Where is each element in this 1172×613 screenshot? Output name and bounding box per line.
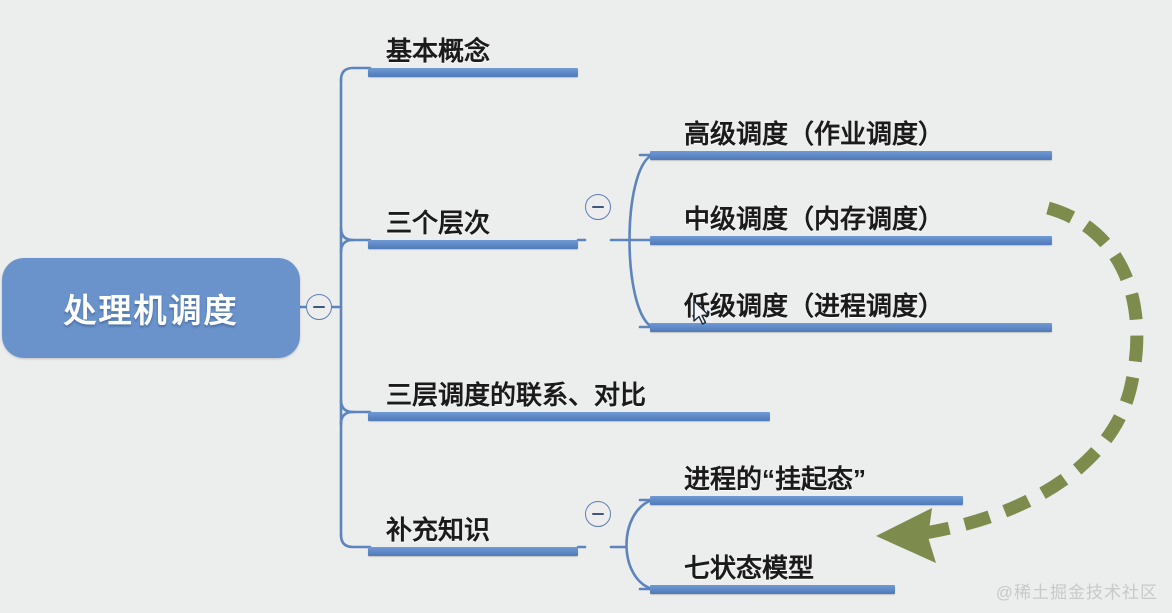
topic-three-levels-bar [368,240,578,249]
watermark: @稀土掘金技术社区 [996,578,1158,603]
topic-three-levels-label: 三个层次 [386,203,490,240]
topic-mid-level-scheduling-bar [650,236,1052,245]
topic-seven-state-model[interactable]: 七状态模型 [650,533,895,594]
root-node[interactable]: 处理机调度 [2,258,300,358]
topic-basic-concepts[interactable]: 基本概念 [368,12,578,77]
topic-three-levels[interactable]: 三个层次 [368,184,578,249]
branch-elbow-3 [341,400,370,412]
topic-mid-level-scheduling-label: 中级调度（内存调度） [684,199,944,236]
topic-high-level-scheduling[interactable]: 高级调度（作业调度） [650,99,1052,160]
branch4-bracket-curve [627,500,653,589]
topic-supplementary-knowledge-bar [368,547,578,556]
mouse-cursor-icon [692,300,712,328]
branch-elbow-3b [341,412,353,424]
topic-process-suspended-state-label: 进程的“挂起态” [684,459,866,496]
topic-process-suspended-state[interactable]: 进程的“挂起态” [650,444,963,505]
topic-high-level-scheduling-bar [650,151,1052,160]
topic-basic-concepts-bar [368,68,578,77]
branch2-bracket-curve [630,155,653,327]
topic-seven-state-model-label: 七状态模型 [684,548,814,585]
topic-three-level-comparison[interactable]: 三层调度的联系、对比 [368,356,770,421]
topic-three-levels-collapse-toggle[interactable] [585,194,611,220]
root-collapse-toggle[interactable] [306,294,332,320]
topic-high-level-scheduling-label: 高级调度（作业调度） [684,114,944,151]
topic-seven-state-model-bar [650,585,895,594]
root-node-label: 处理机调度 [2,258,300,358]
branch-elbow-2b [341,240,353,252]
topic-three-level-comparison-label: 三层调度的联系、对比 [386,375,646,412]
topic-basic-concepts-label: 基本概念 [386,31,490,68]
topic-supplementary-knowledge[interactable]: 补充知识 [368,491,578,556]
branch-elbow-1 [341,68,370,80]
topic-supplementary-knowledge-label: 补充知识 [386,510,490,547]
topic-supplementary-knowledge-collapse-toggle[interactable] [585,501,611,527]
topic-mid-level-scheduling[interactable]: 中级调度（内存调度） [650,184,1052,245]
branch-elbow-2 [341,228,370,240]
topic-low-level-scheduling-label: 低级调度（进程调度） [684,286,944,323]
topic-process-suspended-state-bar [650,496,963,505]
topic-three-level-comparison-bar [368,412,770,421]
mindmap-canvas: 处理机调度 基本概念 三个层次 三层调度的联系、对比 补充知识 高级调度（作业调… [0,0,1172,613]
branch-elbow-4 [341,535,370,547]
